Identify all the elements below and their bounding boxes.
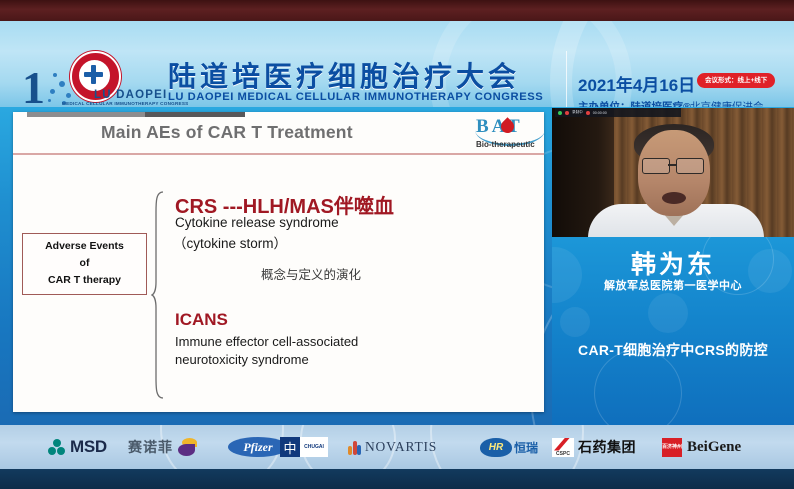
sponsor-logo-pfizer[interactable]: Pfizer (228, 436, 288, 458)
congress-header: 1 LU DAOPEI MEDICAL CELLULAR IMMUNOTHERA… (0, 21, 794, 107)
logo-english-name: LU DAOPEI (94, 89, 167, 101)
sponsor-name-novartis: NOVARTIS (365, 439, 437, 455)
broadcast-screen: 1 LU DAOPEI MEDICAL CELLULAR IMMUNOTHERA… (0, 0, 794, 489)
bat-logo: BAT Bio-therapeutic (476, 116, 554, 151)
hengrui-mark-icon: HR (480, 438, 512, 457)
medical-cross-icon (84, 65, 103, 84)
cspc-mark-text: CSPC (552, 451, 574, 457)
novartis-flame-icon (348, 439, 361, 455)
decor-bubble-2 (560, 307, 590, 337)
icans-heading: ICANS (175, 310, 228, 330)
crs-subtitle-1: Cytokine release syndrome (175, 215, 339, 230)
glasses-icon (642, 158, 706, 173)
congress-title-en: LU DAOPEI MEDICAL CELLULAR IMMUNOTHERAPY… (168, 91, 543, 103)
ae-box-line-1: Adverse Events (23, 234, 146, 255)
speaker-info-panel: 韩为东 解放军总医院第一医学中心 CAR-T细胞治疗中CRS的防控 (552, 237, 794, 425)
crs-evolution-note: 概念与定义的演化 (261, 264, 361, 283)
decor-ring-1 (594, 349, 682, 425)
slide-title: Main AEs of CAR T Treatment (101, 122, 353, 143)
stage-area: Main AEs of CAR T Treatment BAT Bio-ther… (0, 107, 794, 425)
sponsor-logo-hengrui[interactable]: HR 恒瑞 (480, 436, 538, 458)
beigene-seal-icon: 百济神州 (662, 438, 682, 457)
sponsor-logo-msd[interactable]: MSD (48, 436, 107, 458)
adverse-events-box: Adverse Events of CAR T therapy (22, 233, 147, 295)
icans-subtitle-2: neurotoxicity syndrome (175, 352, 309, 367)
organizer-label: 主办单位：陆道培医疗® (578, 99, 691, 107)
logo-numeral: 1 (22, 65, 45, 107)
sponsor-logo-cspc[interactable]: CSPC 石药集团 (552, 436, 636, 458)
icans-subtitle-1: Immune effector cell-associated (175, 334, 358, 349)
ae-box-line-2: of (23, 255, 146, 272)
congress-logo: 1 LU DAOPEI MEDICAL CELLULAR IMMUNOTHERA… (22, 51, 150, 107)
sanofi-mark-icon (176, 438, 200, 456)
cspc-mark-icon: CSPC (552, 438, 574, 457)
speaker-affiliation: 解放军总医院第一医学中心 (552, 277, 794, 293)
sponsor-name-chugai: CHUGAI (300, 437, 328, 457)
sponsor-name-msd: MSD (70, 437, 107, 457)
timer-dot-icon (586, 111, 590, 115)
talk-title: CAR-T细胞治疗中CRS的防控 (552, 340, 794, 360)
sponsor-name-pfizer: Pfizer (243, 440, 272, 455)
msd-mark-icon (48, 439, 65, 456)
crs-subtitle-2: （cytokine storm） (173, 232, 287, 252)
decor-bubble-3 (648, 293, 688, 333)
speaker-mouth (662, 192, 686, 204)
bat-tagline: Bio-therapeutic (476, 140, 535, 149)
bottom-accent-bar (0, 469, 794, 489)
sponsor-logo-sanofi[interactable]: 赛诺菲 (128, 436, 200, 458)
speaker-name: 韩为东 (552, 245, 794, 281)
recording-dot-icon (565, 111, 569, 115)
congress-title-cn: 陆道培医疗细胞治疗大会 (168, 55, 520, 95)
hengrui-mark-text: HR (489, 442, 503, 453)
beigene-seal-text: 百济神州 (662, 444, 682, 450)
chugai-mark-icon: 中 CHUGAI (280, 437, 328, 457)
sponsor-name-cspc: 石药集团 (578, 437, 636, 457)
header-divider (566, 51, 567, 107)
recording-status-label: 录制中 (572, 110, 583, 115)
curly-brace-icon (151, 190, 165, 425)
presentation-slide[interactable]: Main AEs of CAR T Treatment BAT Bio-ther… (13, 112, 544, 412)
sponsor-bar: MSD 赛诺菲 Pfizer 中 CHUGAI NOVARTIS (0, 425, 794, 469)
format-badge: 会议形式：线上+线下 (697, 73, 775, 88)
speaker-video-feed[interactable]: 录制中 00:00:00 (552, 108, 794, 237)
sponsor-name-beigene: BeiGene (687, 439, 741, 456)
speaker-panel: 录制中 00:00:00 韩为东 解放军总医院第一医学中心 CAR-T细胞治疗中… (552, 107, 794, 425)
sponsor-name-sanofi: 赛诺菲 (128, 437, 173, 457)
organizer-secondary: 北京健康促进会 (690, 99, 764, 107)
sponsor-logo-beigene[interactable]: 百济神州 BeiGene (662, 436, 741, 458)
ae-box-line-3: CAR T therapy (23, 272, 146, 289)
chugai-kanji: 中 (280, 437, 300, 457)
top-accent-bar (0, 0, 794, 21)
connection-dot-icon (558, 111, 562, 115)
slide-title-rule (13, 153, 544, 155)
video-status-overlay: 录制中 00:00:00 (555, 108, 681, 117)
sponsor-name-hengrui: 恒瑞 (514, 439, 538, 456)
pfizer-mark-icon: Pfizer (228, 437, 288, 457)
slide-topbar-light (27, 112, 145, 117)
recording-timer: 00:00:00 (593, 111, 607, 115)
congress-date: 2021年4月16日 (578, 71, 695, 96)
sponsor-logo-novartis[interactable]: NOVARTIS (348, 436, 437, 458)
sponsor-logo-chugai[interactable]: 中 CHUGAI (280, 436, 328, 458)
